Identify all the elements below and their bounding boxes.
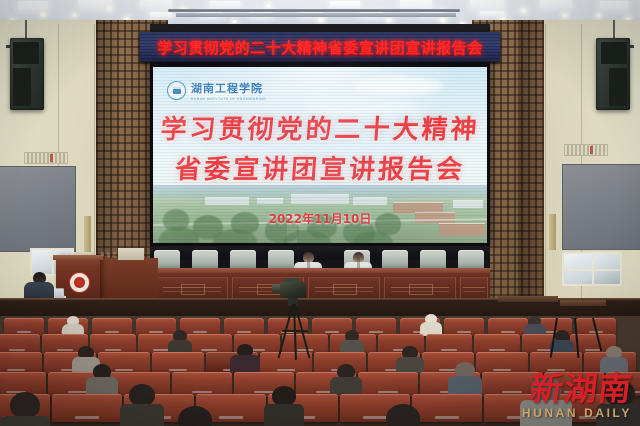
- speaker-driver-slot: [601, 42, 627, 64]
- ceiling-truss-beam: [176, 13, 456, 17]
- empty-chair: [230, 250, 256, 270]
- speaker-mount-rod: [613, 20, 615, 40]
- seat-plaque: [169, 369, 187, 371]
- ceiling-downlight: [440, 18, 446, 22]
- seat-plaque: [149, 331, 163, 333]
- audience-member: [340, 330, 364, 354]
- panel-diamond-motif: [409, 284, 433, 295]
- campus-building: [257, 198, 283, 205]
- podium-top-surface: [53, 255, 103, 260]
- cloud-shape: [353, 77, 443, 95]
- led-screen-frame: 湖南工程学院 HUNAN INSTITUTE OF ENGINEERING 学习…: [150, 64, 490, 246]
- audience-member: [396, 346, 424, 373]
- person-body: [396, 357, 424, 373]
- ceiling-panel-light: [18, 1, 48, 10]
- ceiling-speaker-left: [10, 38, 44, 110]
- ceiling-downlight: [72, 13, 77, 17]
- acoustic-panel-shadow: [518, 20, 544, 320]
- led-banner-strip: 学习贯彻党的二十大精神省委宣讲团宣讲报告会: [140, 32, 500, 62]
- seat-plaque: [457, 331, 471, 333]
- wall-air-vent-right: [564, 144, 608, 156]
- campus-building: [205, 197, 249, 205]
- wall-air-vent-left: [24, 152, 68, 164]
- ceiling-downlight: [106, 6, 113, 11]
- empty-chair: [192, 250, 218, 270]
- seat-plaque: [435, 416, 459, 419]
- window-mullion: [564, 269, 620, 271]
- ceiling-panel-light: [400, 0, 432, 7]
- person-body: [330, 377, 362, 395]
- seat-plaque: [237, 331, 251, 333]
- side-desk: [100, 258, 158, 303]
- wall-seam: [545, 24, 546, 324]
- person-head: [10, 392, 40, 418]
- person-body: [230, 355, 260, 373]
- screen-date-text: 2022年11月10日: [153, 210, 487, 227]
- seat-plaque: [7, 369, 25, 371]
- audience-member: [120, 384, 164, 426]
- audience-member: [86, 364, 118, 395]
- screen-title-line-1: 学习贯彻党的二十大精神: [153, 111, 487, 151]
- led-screen: 湖南工程学院 HUNAN INSTITUTE OF ENGINEERING 学习…: [153, 67, 487, 243]
- seat-plaque: [75, 416, 99, 419]
- wall-display-panel-left: [0, 166, 76, 252]
- audience-seat: [412, 394, 482, 422]
- seat-plaque: [277, 369, 295, 371]
- logo-chinese-name: 湖南工程学院: [191, 82, 263, 95]
- seat-plaque: [378, 391, 398, 393]
- stage-step: [560, 300, 606, 306]
- ceiling-panel-light: [150, 12, 172, 17]
- seat-plaque: [201, 349, 217, 351]
- audience-member: [230, 344, 260, 373]
- empty-chair: [458, 250, 484, 270]
- person-body: [86, 377, 118, 395]
- ceiling-downlight: [520, 8, 527, 13]
- seat-plaque: [363, 416, 387, 419]
- ceiling-panel-light: [210, 1, 240, 7]
- photo-auditorium-scene: 学习贯彻党的二十大精神省委宣讲团宣讲报告会 湖南工程学院 HUNAN INSTI…: [0, 0, 640, 426]
- campus-building: [453, 200, 483, 208]
- shirt-placket: [357, 257, 360, 268]
- empty-chair: [420, 250, 446, 270]
- audience-member: [520, 376, 572, 426]
- audience-member: [264, 386, 304, 426]
- speaker-mount-rod: [25, 20, 27, 40]
- person-body: [120, 404, 164, 426]
- panel-diamond-motif: [181, 284, 205, 295]
- speaker-driver-slot: [13, 68, 31, 106]
- person-head: [386, 404, 420, 426]
- wall-display-panel-right: [562, 164, 640, 250]
- shirt-placket: [307, 257, 310, 268]
- audience-seat: [358, 372, 418, 396]
- seat-plaque: [441, 349, 457, 351]
- audience-member: [420, 314, 442, 336]
- seat-plaque: [493, 369, 511, 371]
- person-body: [600, 357, 628, 373]
- ceiling-downlight: [562, 13, 568, 18]
- person-body: [448, 376, 482, 396]
- seat-plaque: [105, 331, 119, 333]
- led-banner-text: 学习贯彻党的二十大精神省委宣讲团宣讲报告会: [157, 37, 483, 58]
- audience-seat: [52, 394, 122, 422]
- vent-indicator: [50, 154, 53, 162]
- ceiling-speaker-right: [596, 38, 630, 110]
- person-head: [178, 406, 212, 426]
- stage-step: [498, 296, 558, 302]
- audience-seat: [172, 372, 232, 396]
- speaker-driver-slot: [13, 42, 39, 64]
- empty-chair: [268, 250, 294, 270]
- logo-english-name: HUNAN INSTITUTE OF ENGINEERING: [191, 97, 266, 101]
- person-body: [596, 404, 640, 426]
- audience-seat: [152, 352, 204, 374]
- audience-seat: [474, 334, 520, 354]
- campus-building: [353, 197, 387, 205]
- audience-member: [448, 362, 482, 396]
- logo-text-block: 湖南工程学院 HUNAN INSTITUTE OF ENGINEERING: [191, 79, 266, 101]
- audience-member: [386, 404, 420, 426]
- seat-plaque: [325, 331, 339, 333]
- seat-plaque: [153, 349, 169, 351]
- ceiling-panel-light: [540, 0, 572, 8]
- video-camera-tripod: [272, 282, 318, 360]
- audience-seat: [0, 334, 40, 354]
- screen-campus-photo: 2022年11月10日: [153, 185, 487, 243]
- ceiling-downlight: [386, 18, 392, 22]
- seat-plaque: [219, 416, 243, 419]
- panel-diamond-motif: [333, 284, 357, 295]
- audience-member: [0, 392, 50, 426]
- audience-member: [168, 330, 192, 354]
- ceiling-panel-light: [330, 1, 360, 7]
- ceiling-panel-light: [140, 0, 172, 7]
- seat-plaque: [57, 349, 73, 351]
- school-emblem-icon: [69, 272, 90, 293]
- seat-plaque: [192, 391, 212, 393]
- seat-plaque: [17, 331, 31, 333]
- screen-title-block: 学习贯彻党的二十大精神 省委宣讲团宣讲报告会: [153, 111, 487, 190]
- person-head: [272, 386, 296, 406]
- audience-seat: [530, 352, 582, 374]
- audience-seat: [476, 352, 528, 374]
- person-body: [0, 416, 50, 426]
- door-frame-right: [549, 214, 556, 250]
- seat-plaque: [193, 331, 207, 333]
- ceiling-panel-light: [480, 11, 504, 16]
- audience-member: [596, 380, 640, 426]
- seat-plaque: [369, 331, 383, 333]
- person-head: [531, 376, 561, 402]
- person-body: [520, 400, 572, 426]
- audience-seat: [0, 352, 42, 374]
- screen-school-logo: 湖南工程学院 HUNAN INSTITUTE OF ENGINEERING: [167, 79, 266, 101]
- ceiling-panel-light: [600, 1, 628, 9]
- campus-building: [291, 194, 349, 204]
- seat-plaque: [585, 349, 601, 351]
- audience-seat: [426, 334, 472, 354]
- audience-member: [600, 346, 628, 373]
- camera-body: [280, 282, 306, 298]
- person-body: [264, 404, 304, 426]
- empty-chair: [382, 250, 408, 270]
- person-head: [129, 384, 155, 406]
- ceiling-downlight: [40, 12, 46, 17]
- audience-member: [178, 406, 212, 426]
- equipment-box: [118, 248, 144, 260]
- person-head: [605, 380, 635, 406]
- book-emblem-icon: [167, 81, 186, 100]
- seat-plaque: [489, 349, 505, 351]
- door-frame-left: [84, 216, 91, 252]
- seat-plaque: [547, 369, 565, 371]
- side-window: [562, 252, 622, 286]
- head-table-top-edge: [150, 268, 490, 273]
- ceiling-truss-beam: [168, 9, 460, 12]
- audience-member: [330, 364, 362, 395]
- ceiling-downlight: [266, 4, 271, 8]
- ceiling-downlight: [596, 13, 602, 18]
- speaker-driver-slot: [609, 68, 627, 106]
- seat-plaque: [9, 349, 25, 351]
- seat-plaque: [105, 349, 121, 351]
- ceiling-panel-light: [470, 0, 504, 8]
- audience-seat: [186, 334, 232, 354]
- ceiling-downlight: [318, 18, 324, 22]
- seat-plaque: [501, 331, 515, 333]
- ceiling-downlight: [232, 20, 237, 23]
- vent-indicator: [590, 146, 593, 154]
